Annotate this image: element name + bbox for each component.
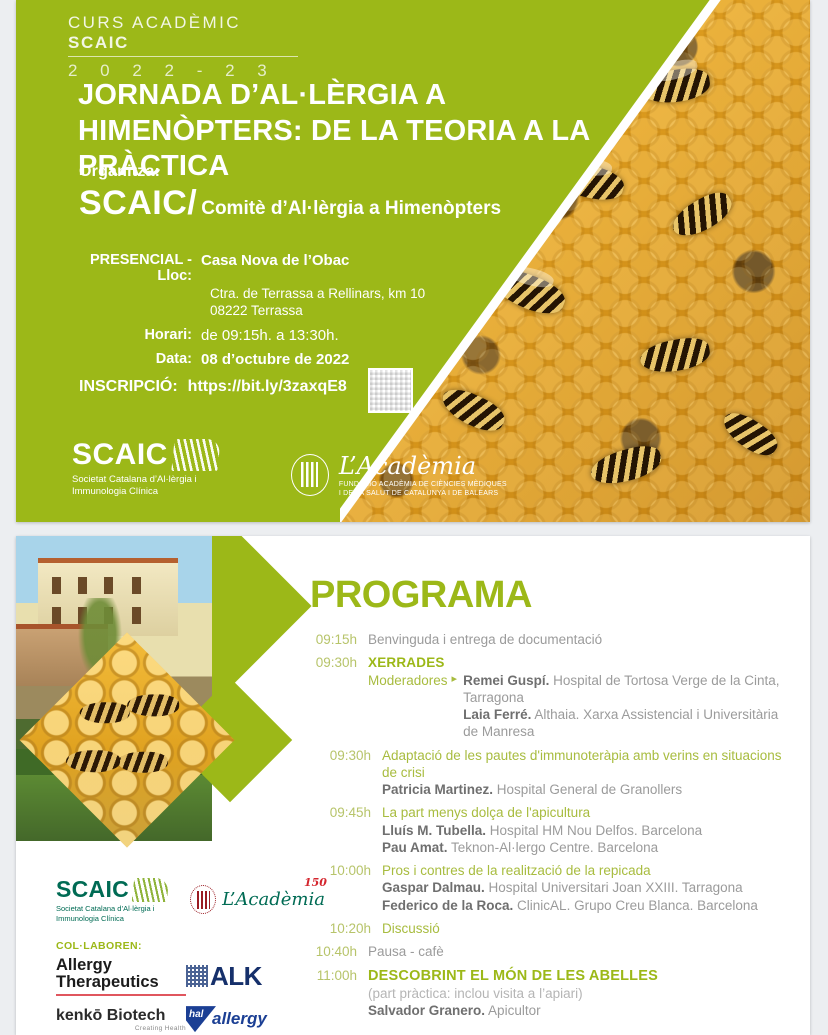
event-details: PRESENCIAL - Lloc: Casa Nova de l’Obac C… [79,252,425,369]
academia-logo-color: L’Acadèmia150 [190,885,325,914]
academia-tagline-1: FUNDACIÓ ACADÈMIA DE CIÈNCIES MÈDIQUES [339,480,507,489]
course-brand: SCAIC [68,33,129,52]
wheat-icon [132,878,170,902]
scaic-tagline-1: Societat Catalana d’Al·lèrgia i [72,474,219,486]
scaic-wordmark: SCAIC [72,438,168,472]
program-row: 09:45hLa part menys dolça de l'apicultur… [310,804,790,856]
program-entry: Adaptació de les pautes d'immunoteràpia … [382,747,790,799]
sponsor-alk: ALK [186,961,296,992]
scaic-tagline-2: Immunologia Clínica [72,486,219,498]
program-speaker: Lluís M. Tubella. Hospital HM Nou Delfos… [382,822,790,839]
program-time: 10:20h [324,920,382,937]
scaic-tagline-1: Societat Catalana d’Al·lèrgia i [56,904,168,914]
program-row: 10:00hPros i contres de la realització d… [310,862,790,914]
program-entry: La part menys dolça de l'apiculturaLluís… [382,804,790,856]
speaker-name: Pau Amat. [382,840,448,855]
program-time: 09:15h [310,631,368,648]
academia-shield-icon [291,454,329,496]
chevron-right-icon: ▸ [452,672,458,688]
speaker-name: Salvador Granero. [368,1003,485,1018]
program-row: 09:30hXERRADESModeradores▸Remei Guspí. H… [310,654,790,740]
inscripcio-url[interactable]: https://bit.ly/3zaxqE8 [188,378,347,396]
course-header: CURS ACADÈMIC SCAIC 2 0 2 2 - 2 3 [68,13,298,81]
program-artwork [16,536,281,866]
program-entry: XERRADESModeradores▸Remei Guspí. Hospita… [368,654,790,740]
moderator-name: Laia Ferré. [463,707,531,722]
kenko-tagline: Creating Health [56,1025,186,1032]
program-speaker: Federico de la Roca. ClinicAL. Grupo Cre… [382,897,790,914]
program-speaker: Patricia Martinez. Hospital General de G… [382,781,790,798]
moderator-names: Remei Guspí. Hospital de Tortosa Verge d… [463,672,790,741]
program-entry: Pausa - cafè [368,943,790,960]
inscripcio-label: INSCRIPCIÓ: [79,378,178,396]
academia-logo-white: L’Acadèmia FUNDACIÓ ACADÈMIA DE CIÈNCIES… [291,452,507,498]
program-row: 09:30hAdaptació de les pautes d'immunote… [310,747,790,799]
program-plain-text: Benvinguda i entrega de documentació [368,631,790,648]
presencial-label: PRESENCIAL - Lloc: [79,252,201,284]
program-talk-title: Pros i contres de la realització de la r… [382,862,790,879]
program-row: 09:15hBenvinguda i entrega de documentac… [310,631,790,648]
scaic-logo-color: SCAIC Societat Catalana d’Al·lèrgia i Im… [56,876,168,924]
program-time: 11:00h [310,967,368,1020]
program-note: (part pràctica: inclou visita a l’apiari… [368,985,790,1002]
data-value: 08 d’octubre de 2022 [201,351,349,368]
data-label: Data: [79,351,201,368]
wheat-icon [171,439,220,471]
moderators-block: Moderadores▸Remei Guspí. Hospital de Tor… [368,672,790,741]
organizer-block: Organitza: SCAIC/ Comitè d’Al·lèrgia a H… [79,163,501,223]
venue-address-2: 08222 Terrassa [210,302,425,319]
program-section-heading: XERRADES [368,654,790,671]
program-time: 10:00h [324,862,382,914]
program-talk-title: La part menys dolça de l'apicultura [382,804,790,821]
program-heading: PROGRAMA [310,574,790,617]
alk-dots-icon [186,965,208,987]
program-time: 09:45h [324,804,382,856]
registration-block: INSCRIPCIÓ: https://bit.ly/3zaxqE8 [79,378,347,396]
qr-code-icon[interactable] [368,368,413,413]
poster-page: CURS ACADÈMIC SCAIC 2 0 2 2 - 2 3 JORNAD… [0,0,828,1035]
program-speaker: Salvador Granero. Apicultor [368,1002,790,1019]
moderator-name: Remei Guspí. [463,673,549,688]
scaic-wordmark-color: SCAIC [56,876,129,903]
organizer-label: Organitza: [79,163,501,181]
speaker-name: Lluís M. Tubella. [382,823,486,838]
course-label: CURS ACADÈMIC [68,13,241,32]
program-row: 11:00hDESCOBRINT EL MÓN DE LES ABELLES(p… [310,967,790,1020]
program-row: 10:40hPausa - cafè [310,943,790,960]
academia-wordmark: L’Acadèmia [339,452,507,480]
venue-address-1: Ctra. de Terrassa a Rellinars, km 10 [210,285,425,302]
program-speaker: Pau Amat. Teknon-Al·lergo Centre. Barcel… [382,839,790,856]
program-row: 10:20hDiscussió [310,920,790,937]
hal-wordmark: allergy [212,1009,267,1029]
program-speaker: Gaspar Dalmau. Hospital Universitari Joa… [382,879,790,896]
program-talk-title: Discussió [382,920,790,937]
organizer-name: SCAIC/ [79,184,197,223]
program-section-heading: DESCOBRINT EL MÓN DE LES ABELLES [368,967,790,986]
speaker-name: Gaspar Dalmau. [382,880,485,895]
sponsor-kenko-biotech: kenkō Biotech Creating Health [56,1007,186,1032]
collaborators-label: COL·LABOREN: [56,940,306,952]
program-time: 10:40h [310,943,368,960]
program-time: 09:30h [324,747,382,799]
horari-value: de 09:15h. a 13:30h. [201,327,339,344]
academia-shield-icon [190,885,216,914]
program-plain-text: Pausa - cafè [368,943,790,960]
moderators-label: Moderadores [368,672,448,689]
sponsor-allergy-therapeutics: Allergy Therapeutics [56,957,186,997]
poster-panel: CURS ACADÈMIC SCAIC 2 0 2 2 - 2 3 JORNAD… [16,0,810,522]
poster-logo-row: SCAIC Societat Catalana d’Al·lèrgia i Im… [72,438,507,498]
course-rule [68,56,298,57]
program-talk-title: Adaptació de les pautes d'immunoteràpia … [382,747,790,782]
program-entry: DESCOBRINT EL MÓN DE LES ABELLES(part pr… [368,967,790,1020]
collaborators-block: COL·LABOREN: Allergy Therapeutics ALK ke… [56,940,306,1033]
scaic-logo-white: SCAIC Societat Catalana d’Al·lèrgia i Im… [72,438,219,498]
academia-tagline-2: I DE LA SALUT DE CATALUNYA I DE BALEARS [339,489,507,498]
speaker-name: Patricia Martinez. [382,782,493,797]
horari-label: Horari: [79,327,201,344]
sponsor-hal-allergy: hal allergy [186,1006,296,1032]
program-time: 09:30h [310,654,368,740]
program-entry: Benvinguda i entrega de documentació [368,631,790,648]
speaker-name: Federico de la Roca. [382,898,513,913]
program-panel: SCAIC Societat Catalana d’Al·lèrgia i Im… [16,536,810,1035]
program-entry: Pros i contres de la realització de la r… [382,862,790,914]
program-list: PROGRAMA 09:15hBenvinguda i entrega de d… [310,574,790,1026]
program-logo-block: SCAIC Societat Catalana d’Al·lèrgia i Im… [56,876,306,1032]
program-entry: Discussió [382,920,790,937]
venue-name: Casa Nova de l’Obac [201,252,349,284]
organizer-committee: Comitè d’Al·lèrgia a Himenòpters [201,198,501,220]
scaic-tagline-2: Immunologia Clínica [56,914,168,924]
